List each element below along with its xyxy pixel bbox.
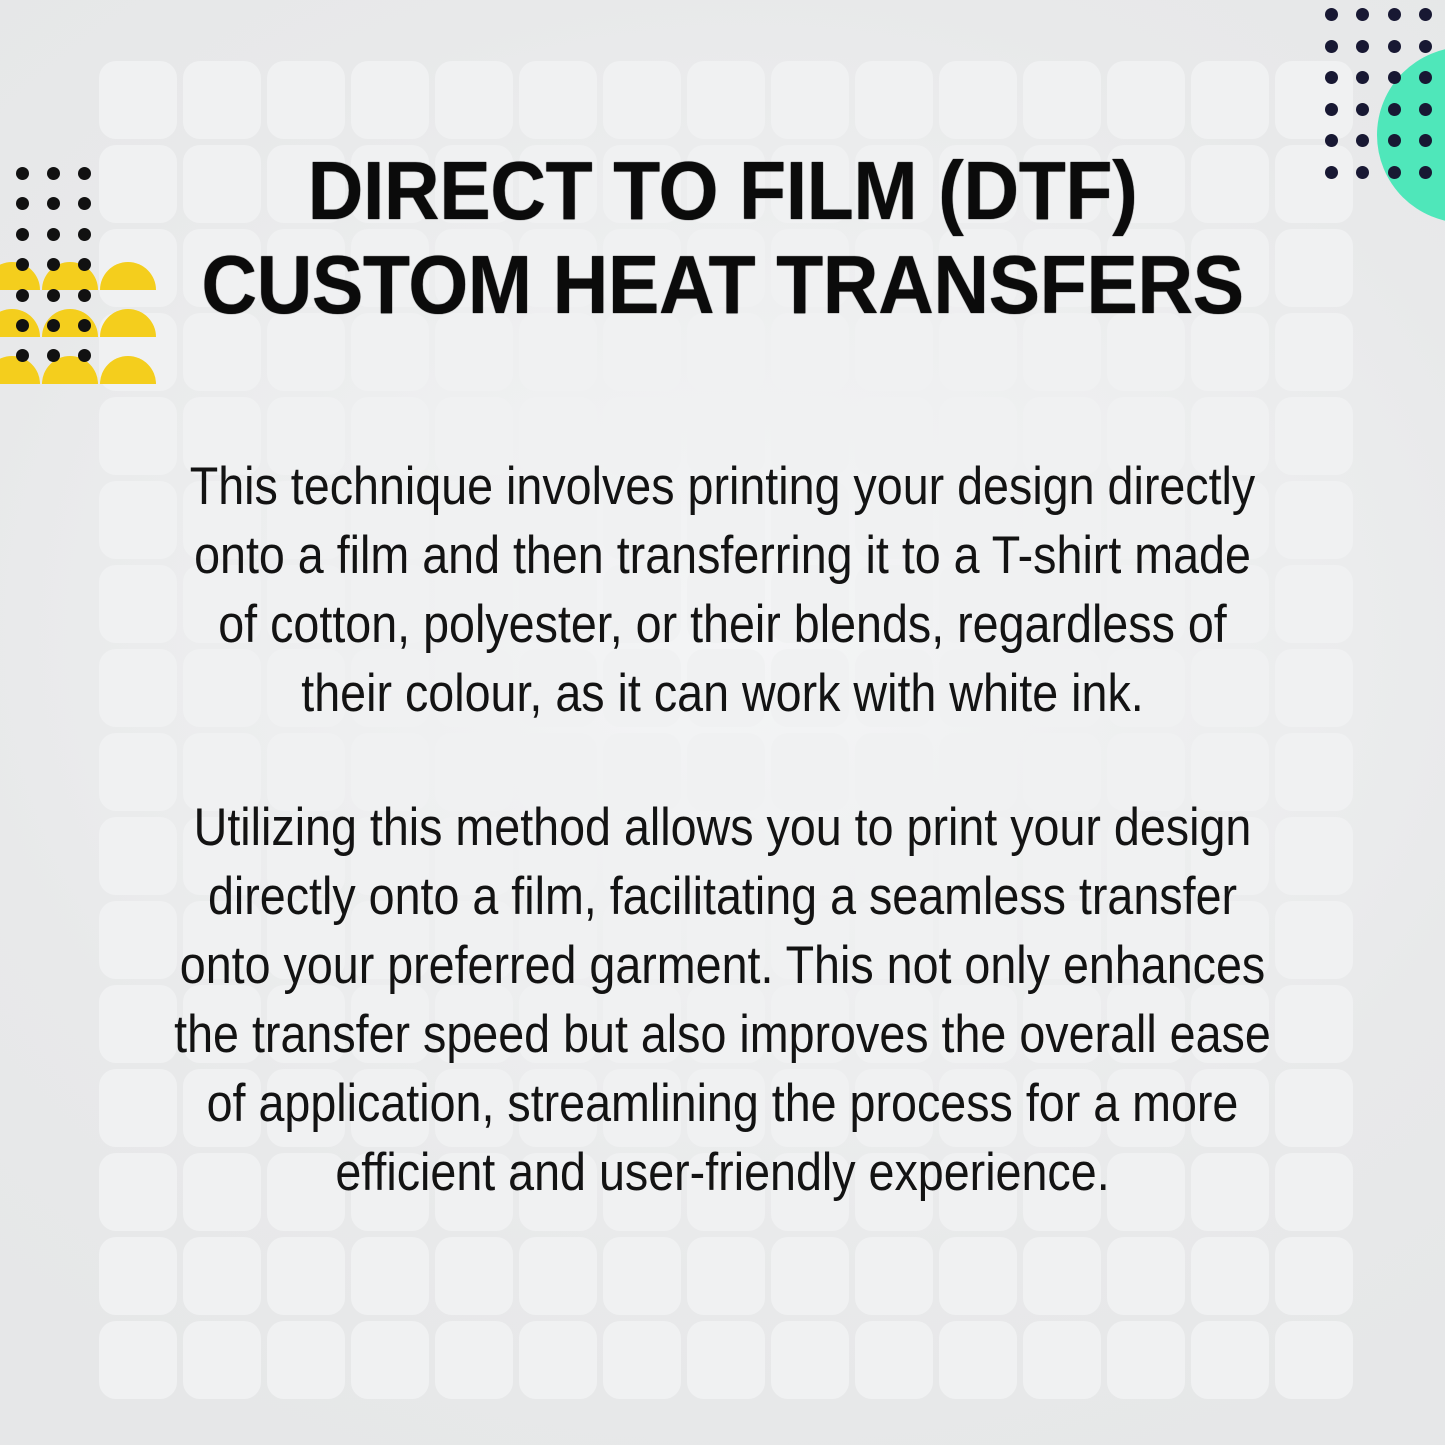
poster-canvas: DIRECT TO FILM (DTF) CUSTOM HEAT TRANSFE… xyxy=(0,0,1445,1445)
decorative-dot xyxy=(1356,71,1369,84)
lattice-cell xyxy=(603,61,681,139)
yellow-semicircle xyxy=(0,262,40,290)
lattice-cell xyxy=(771,1321,849,1399)
paragraph-one: This technique involves printing your de… xyxy=(170,452,1274,728)
decorative-dot xyxy=(1388,40,1401,53)
decorative-dot xyxy=(1356,8,1369,21)
lattice-cell xyxy=(687,1321,765,1399)
lattice-cell xyxy=(1107,61,1185,139)
lattice-cell xyxy=(1191,61,1269,139)
decorative-dot xyxy=(78,349,91,362)
lattice-cell xyxy=(435,1321,513,1399)
decorative-dot xyxy=(16,258,29,271)
lattice-cell xyxy=(1275,61,1353,139)
lattice-cell xyxy=(351,61,429,139)
lattice-cell xyxy=(1191,1321,1269,1399)
lattice-cell xyxy=(1275,1237,1353,1315)
decorative-dot xyxy=(1419,40,1432,53)
lattice-cell xyxy=(687,61,765,139)
lattice-cell xyxy=(939,1321,1017,1399)
lattice-cell xyxy=(1107,1321,1185,1399)
lattice-cell xyxy=(183,1237,261,1315)
decorative-dot xyxy=(16,349,29,362)
lattice-cell xyxy=(1023,61,1101,139)
lattice-cell xyxy=(183,1321,261,1399)
paragraph-two: Utilizing this method allows you to prin… xyxy=(170,793,1274,1207)
lattice-cell xyxy=(267,1321,345,1399)
lattice-cell xyxy=(519,61,597,139)
decorative-dot xyxy=(1325,71,1338,84)
lattice-cell xyxy=(771,61,849,139)
decorative-dot xyxy=(16,319,29,332)
lattice-cell xyxy=(1107,1237,1185,1315)
body-copy: This technique involves printing your de… xyxy=(95,452,1350,1207)
decorative-dot xyxy=(47,349,60,362)
lattice-cell xyxy=(267,61,345,139)
decorative-dot xyxy=(16,228,29,241)
decorative-dot xyxy=(16,197,29,210)
lattice-cell xyxy=(603,1321,681,1399)
yellow-semicircle xyxy=(0,309,40,337)
lattice-cell xyxy=(267,1237,345,1315)
decorative-dot xyxy=(1419,8,1432,21)
lattice-cell xyxy=(939,1237,1017,1315)
yellow-semicircle xyxy=(100,356,156,384)
lattice-cell xyxy=(99,1321,177,1399)
lattice-cell xyxy=(603,1237,681,1315)
lattice-cell xyxy=(435,61,513,139)
lattice-cell xyxy=(351,1237,429,1315)
lattice-cell xyxy=(855,1237,933,1315)
decorative-dot xyxy=(16,289,29,302)
decorative-dot xyxy=(16,167,29,180)
yellow-semicircle xyxy=(0,356,40,384)
lattice-cell xyxy=(1023,1321,1101,1399)
lattice-cell xyxy=(519,1237,597,1315)
decorative-dot xyxy=(1356,103,1369,116)
decorative-dot xyxy=(1325,40,1338,53)
lattice-cell xyxy=(1191,1237,1269,1315)
lattice-cell xyxy=(855,61,933,139)
lattice-cell xyxy=(99,1237,177,1315)
decorative-dot xyxy=(1325,103,1338,116)
lattice-cell xyxy=(771,1237,849,1315)
decorative-dot xyxy=(1325,8,1338,21)
lattice-cell xyxy=(435,1237,513,1315)
lattice-cell xyxy=(687,1237,765,1315)
page-title: DIRECT TO FILM (DTF) CUSTOM HEAT TRANSFE… xyxy=(51,144,1395,332)
lattice-cell xyxy=(1275,1321,1353,1399)
lattice-cell xyxy=(183,61,261,139)
decorative-dot xyxy=(1356,40,1369,53)
lattice-cell xyxy=(855,1321,933,1399)
lattice-cell xyxy=(351,1321,429,1399)
lattice-cell xyxy=(99,61,177,139)
lattice-cell xyxy=(519,1321,597,1399)
lattice-cell xyxy=(939,61,1017,139)
lattice-cell xyxy=(1023,1237,1101,1315)
decorative-dot xyxy=(1388,8,1401,21)
yellow-semicircle xyxy=(42,356,98,384)
